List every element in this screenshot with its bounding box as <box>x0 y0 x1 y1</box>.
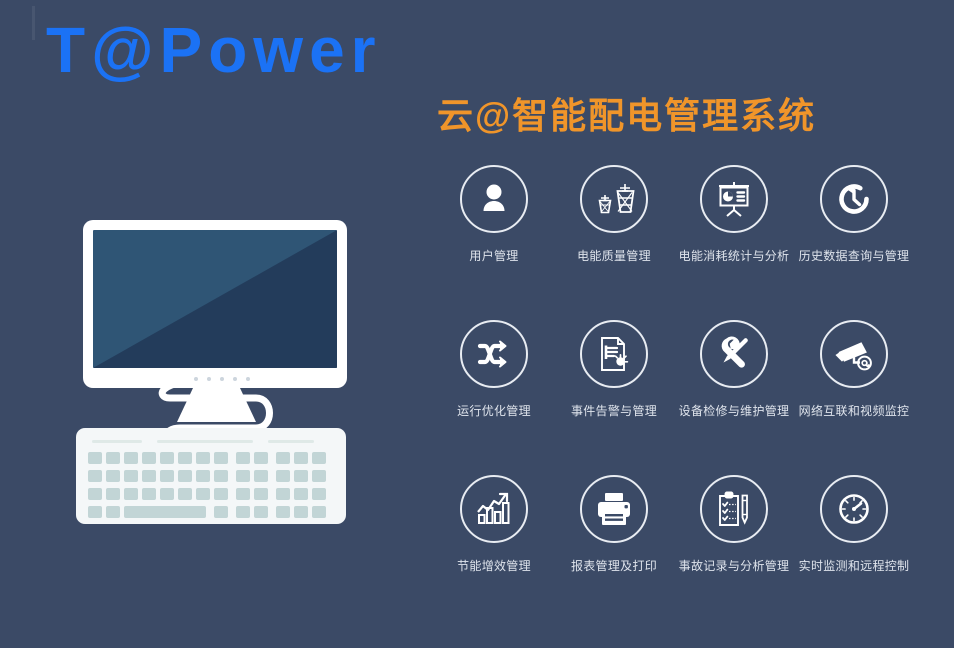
feature-label: 事件告警与管理 <box>571 402 657 419</box>
corner-mark <box>32 6 35 40</box>
feature-label: 节能增效管理 <box>457 557 531 574</box>
page-subtitle: 云@智能配电管理系统 <box>437 98 816 134</box>
feature-item-energy-saving[interactable]: 节能增效管理 <box>434 475 554 630</box>
computer-illustration-svg <box>60 190 420 550</box>
power-tower-icon <box>580 165 648 233</box>
document-alert-icon <box>580 320 648 388</box>
feature-label: 设备检修与维护管理 <box>679 402 790 419</box>
monitor-stand <box>177 388 256 422</box>
feature-label: 历史数据查询与管理 <box>799 247 910 264</box>
cctv-camera-at-icon <box>820 320 888 388</box>
feature-item-incident-record[interactable]: 事故记录与分析管理 <box>674 475 794 630</box>
poster-canvas: T@Power 云@智能配电管理系统 <box>0 0 954 648</box>
user-icon <box>460 165 528 233</box>
feature-label: 事故记录与分析管理 <box>679 557 790 574</box>
history-clock-icon <box>820 165 888 233</box>
feature-item-consumption-analysis[interactable]: 电能消耗统计与分析 <box>674 165 794 320</box>
monitor-screen <box>93 230 337 368</box>
feature-label: 运行优化管理 <box>457 402 531 419</box>
feature-label: 用户管理 <box>469 247 518 264</box>
presentation-chart-icon <box>700 165 768 233</box>
feature-label: 电能消耗统计与分析 <box>679 247 790 264</box>
feature-item-operation-optimization[interactable]: 运行优化管理 <box>434 320 554 475</box>
growth-chart-icon <box>460 475 528 543</box>
feature-label: 网络互联和视频监控 <box>799 402 910 419</box>
feature-grid: 用户管理 电能质量管理 <box>434 165 914 630</box>
shuffle-arrows-icon <box>460 320 528 388</box>
feature-item-user-management[interactable]: 用户管理 <box>434 165 554 320</box>
feature-item-event-alarm[interactable]: 事件告警与管理 <box>554 320 674 475</box>
feature-item-report-print[interactable]: 报表管理及打印 <box>554 475 674 630</box>
clipboard-pen-icon <box>700 475 768 543</box>
printer-icon <box>580 475 648 543</box>
feature-label: 电能质量管理 <box>577 247 651 264</box>
computer-illustration <box>60 190 420 550</box>
feature-item-realtime-monitoring[interactable]: 实时监测和远程控制 <box>794 475 914 630</box>
wrench-screwdriver-icon <box>700 320 768 388</box>
feature-item-power-quality[interactable]: 电能质量管理 <box>554 165 674 320</box>
keyboard-top-strips <box>92 440 314 443</box>
feature-label: 报表管理及打印 <box>571 557 657 574</box>
feature-item-history-data[interactable]: 历史数据查询与管理 <box>794 165 914 320</box>
feature-item-maintenance[interactable]: 设备检修与维护管理 <box>674 320 794 475</box>
feature-item-network-video[interactable]: 网络互联和视频监控 <box>794 320 914 475</box>
page-title: T@Power <box>46 18 382 82</box>
feature-label: 实时监测和远程控制 <box>799 557 910 574</box>
gauge-icon <box>820 475 888 543</box>
